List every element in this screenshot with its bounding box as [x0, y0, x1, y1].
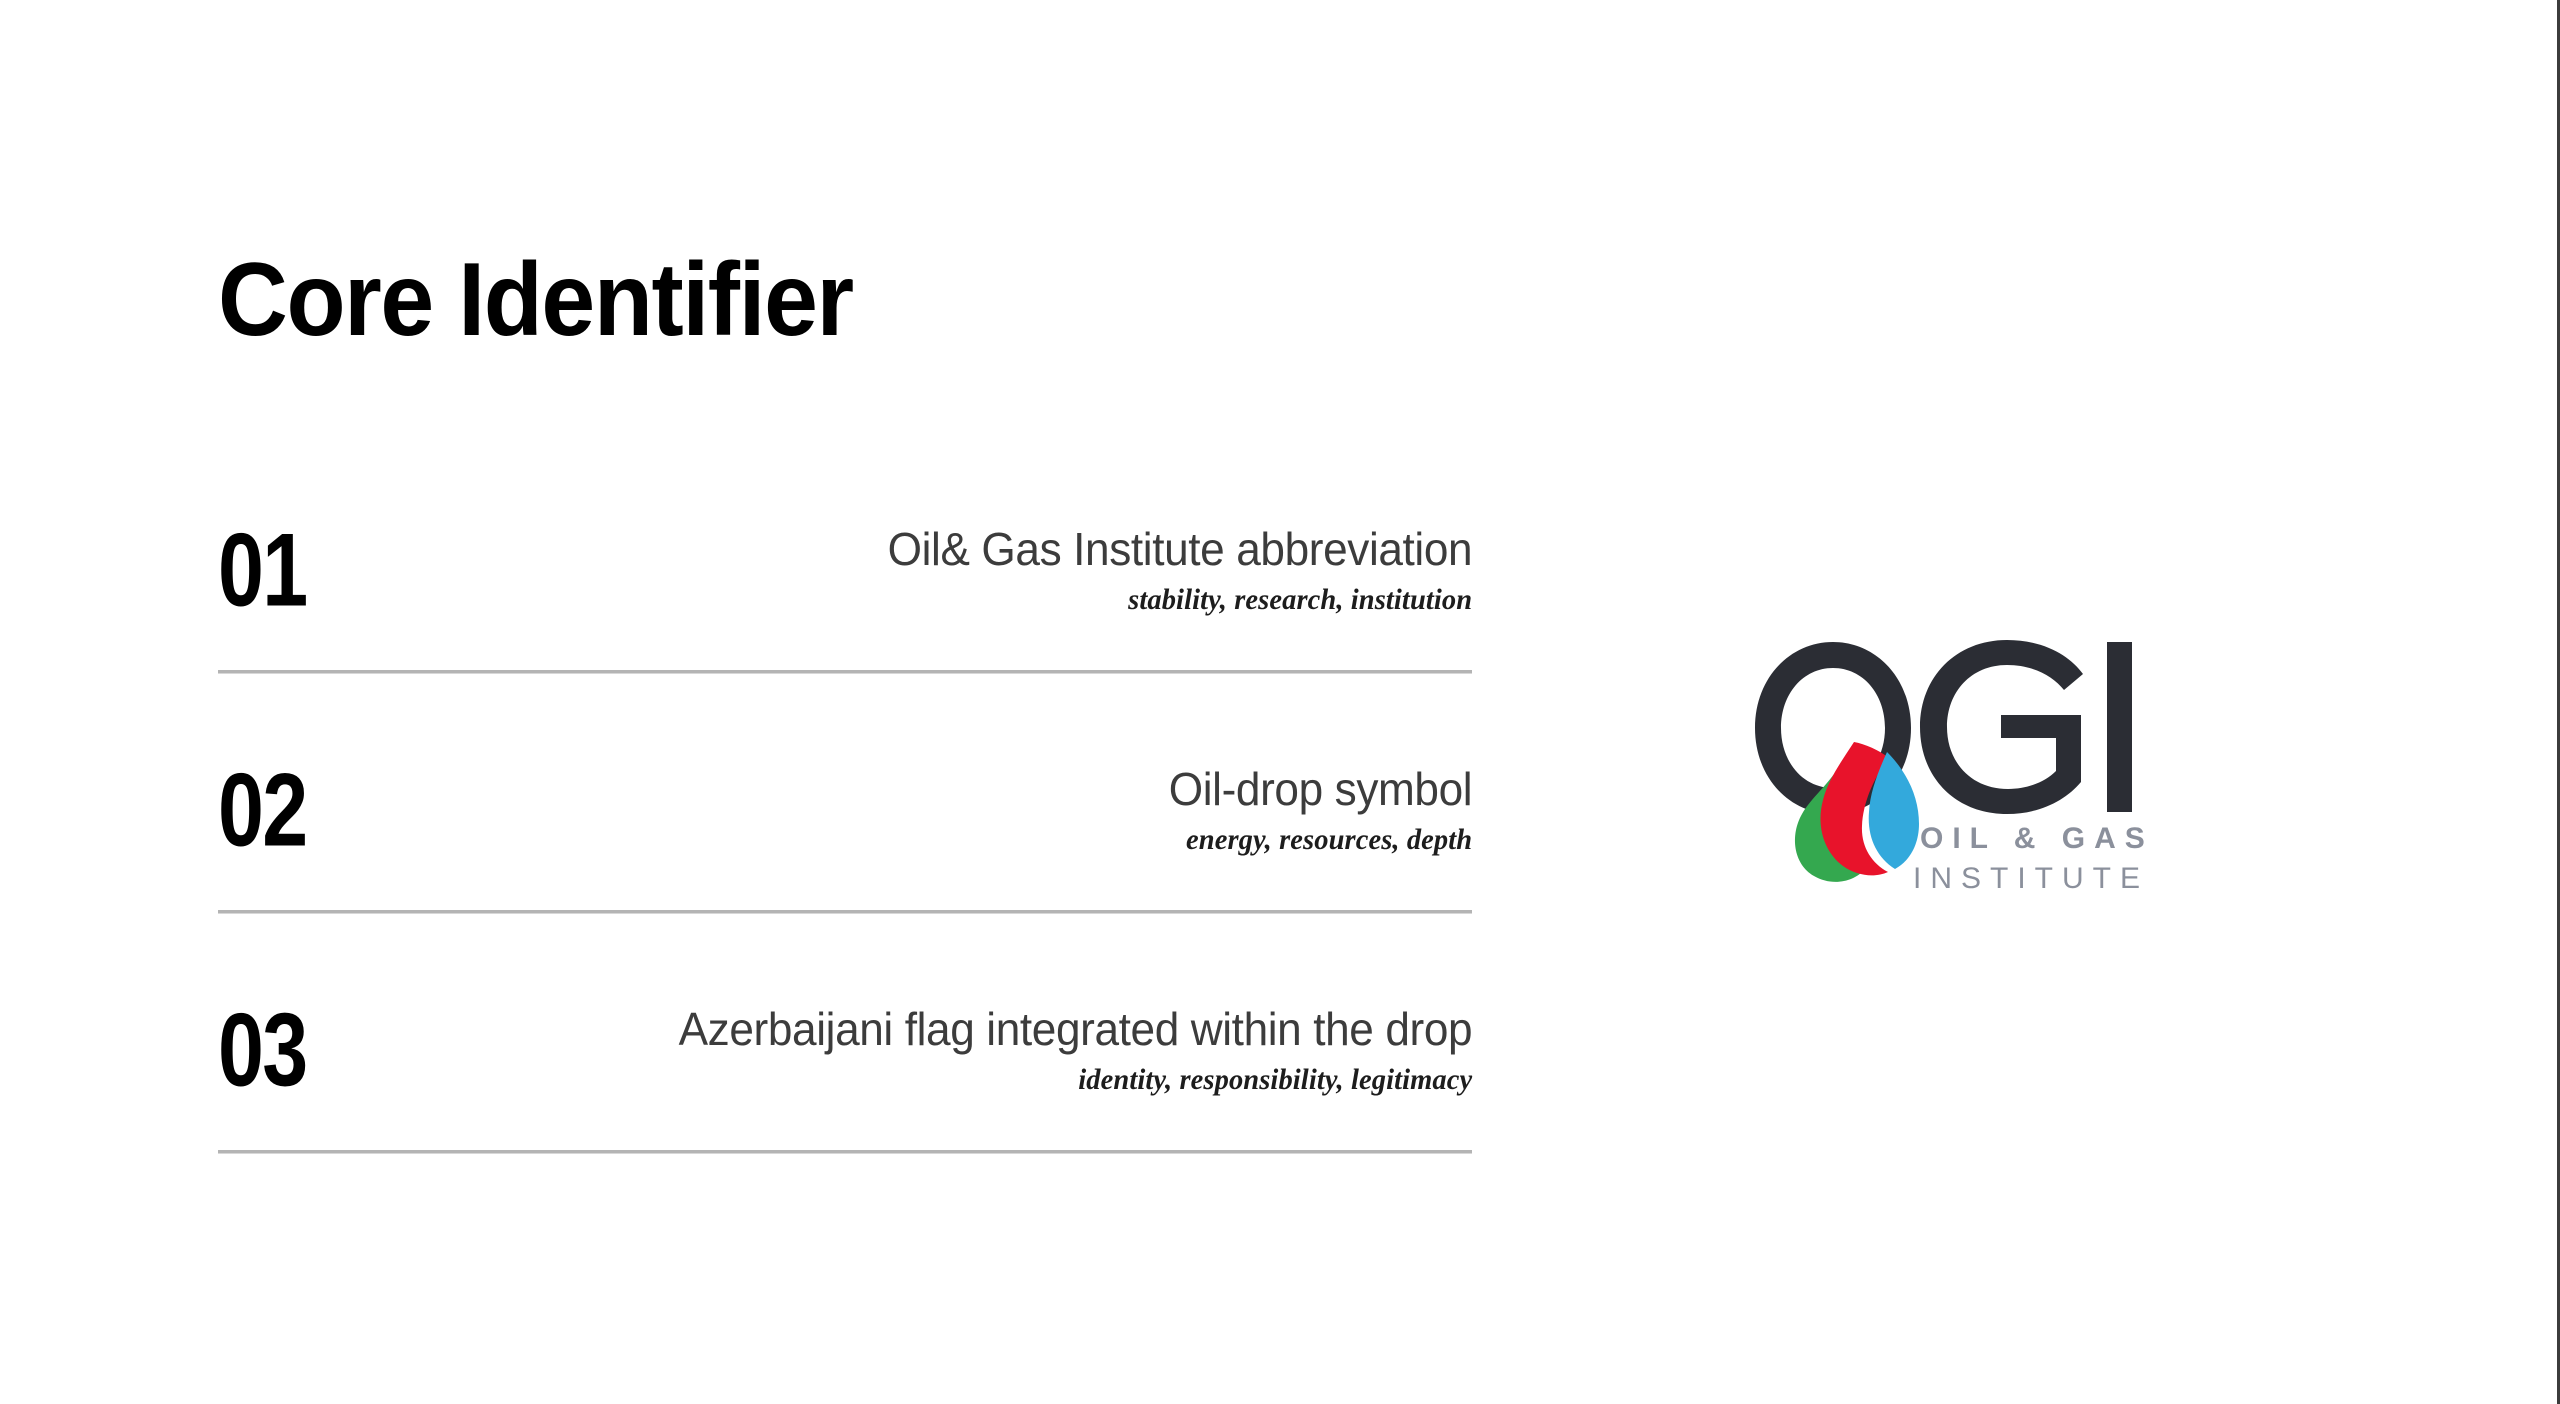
list-item[interactable]: 02 Oil-drop symbol energy, resources, de…	[218, 710, 1472, 950]
list-item-number: 02	[218, 759, 306, 863]
slide-canvas: Core Identifier 01 Oil& Gas Institute ab…	[0, 0, 2560, 1404]
list-item-title: Azerbaijani flag integrated within the d…	[405, 1002, 1472, 1056]
page-title: Core Identifier	[218, 248, 853, 352]
list-item-subtitle: identity, responsibility, legitimacy	[416, 1060, 1472, 1101]
list-item-subtitle: stability, research, institution	[416, 580, 1472, 621]
list-item-subtitle: energy, resources, depth	[416, 820, 1472, 861]
list-item-divider	[218, 910, 1472, 914]
logo-wordmark-line2: INSTITUTE	[1913, 862, 2149, 895]
list-item-title: Oil-drop symbol	[405, 762, 1472, 816]
list-item-number: 01	[218, 519, 306, 623]
ogi-logo: OIL & GAS INSTITUTE	[1745, 630, 2165, 910]
identifier-list: 01 Oil& Gas Institute abbreviation stabi…	[218, 470, 1472, 1190]
list-item-text: Azerbaijani flag integrated within the d…	[321, 1002, 1472, 1101]
list-item-divider	[218, 1150, 1472, 1154]
list-item-number: 03	[218, 999, 306, 1103]
ogi-logo-svg: OIL & GAS INSTITUTE	[1745, 630, 2165, 910]
list-item-row: 02 Oil-drop symbol energy, resources, de…	[218, 710, 1472, 912]
list-item-title: Oil& Gas Institute abbreviation	[405, 522, 1472, 576]
list-item-row: 03 Azerbaijani flag integrated within th…	[218, 950, 1472, 1152]
logo-wordmark-line1: OIL & GAS	[1920, 822, 2154, 855]
logo-letter-i-icon	[2107, 642, 2132, 812]
list-item-divider	[218, 670, 1472, 674]
list-item[interactable]: 01 Oil& Gas Institute abbreviation stabi…	[218, 470, 1472, 710]
list-item[interactable]: 03 Azerbaijani flag integrated within th…	[218, 950, 1472, 1190]
logo-letter-g-icon	[1920, 640, 2083, 814]
list-item-text: Oil& Gas Institute abbreviation stabilit…	[321, 522, 1472, 621]
list-item-row: 01 Oil& Gas Institute abbreviation stabi…	[218, 470, 1472, 672]
list-item-text: Oil-drop symbol energy, resources, depth	[321, 762, 1472, 861]
